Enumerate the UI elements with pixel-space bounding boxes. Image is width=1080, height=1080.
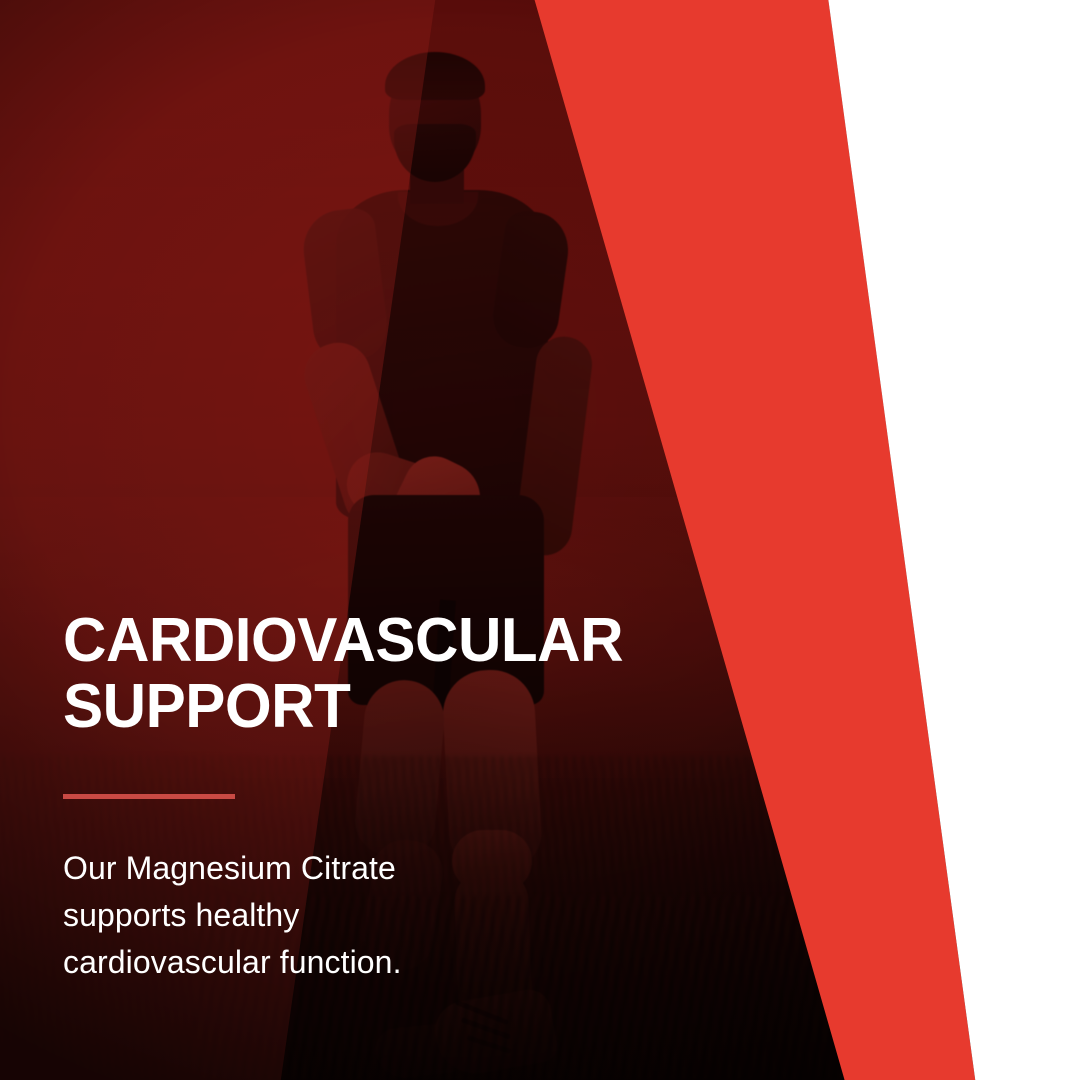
accent-divider: [63, 794, 235, 799]
promo-poster: CARDIOVASCULAR SUPPORT Our Magnesium Cit…: [0, 0, 1080, 1080]
subheading-description: Our Magnesium Citrate supports healthy c…: [63, 845, 723, 986]
text-block: CARDIOVASCULAR SUPPORT Our Magnesium Cit…: [63, 608, 723, 986]
page-title: CARDIOVASCULAR SUPPORT: [63, 608, 703, 740]
